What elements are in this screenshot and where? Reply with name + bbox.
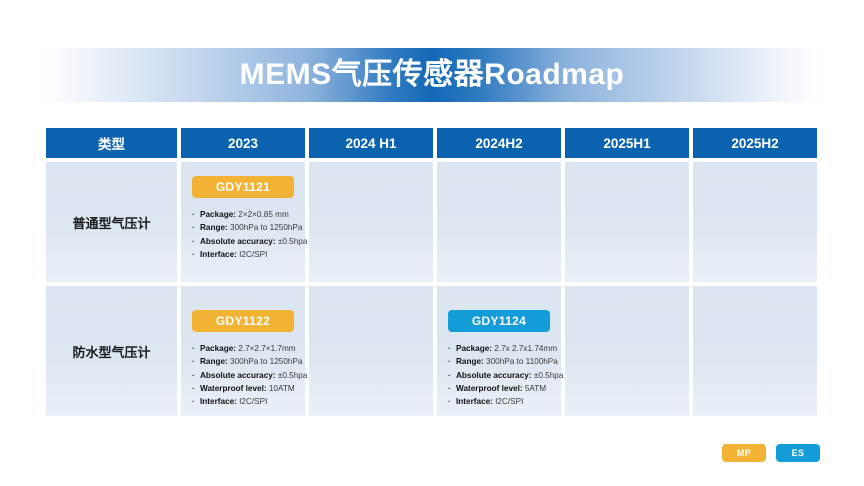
spec-key: Range: — [200, 357, 228, 366]
spec-item: Package: 2.7x 2.7x1.74mm — [448, 342, 550, 355]
legend-chip-es[interactable]: ES — [776, 444, 820, 462]
product-chip-gdy1122[interactable]: GDY1122 — [192, 310, 294, 332]
table-row: 防水型气压计 GDY1122 Package: 2.7×2.7×1.7mm Ra… — [46, 286, 818, 416]
cell-2023-waterproof[interactable]: GDY1122 Package: 2.7×2.7×1.7mm Range: 30… — [181, 286, 305, 416]
spec-item: Interface: I2C/SPI — [192, 248, 294, 261]
spec-list: Package: 2×2×0.85 mm Range: 300hPa to 12… — [192, 208, 294, 261]
cell-2024h1-normal[interactable] — [309, 162, 433, 282]
page-title: MEMS气压传感器Roadmap — [240, 60, 625, 90]
spec-value: 2.7x 2.7x1.74mm — [494, 344, 557, 353]
product-chip-gdy1121[interactable]: GDY1121 — [192, 176, 294, 198]
spec-key: Package: — [456, 344, 492, 353]
legend-chip-mp[interactable]: MP — [722, 444, 766, 462]
table-header-cell-2024h1: 2024 H1 — [309, 128, 433, 158]
spec-item: Interface: I2C/SPI — [192, 395, 294, 408]
cell-2024h1-waterproof[interactable] — [309, 286, 433, 416]
cell-2023-normal[interactable]: GDY1121 Package: 2×2×0.85 mm Range: 300h… — [181, 162, 305, 282]
spec-item: Absolute accuracy: ±0.5hpa — [192, 369, 294, 382]
cell-2025h2-normal[interactable] — [693, 162, 817, 282]
spec-item: Absolute accuracy: ±0.5hpa — [448, 369, 550, 382]
spec-item: Waterproof level: 10ATM — [192, 382, 294, 395]
cell-2024h2-normal[interactable] — [437, 162, 561, 282]
spec-list: Package: 2.7x 2.7x1.74mm Range: 300hPa t… — [448, 342, 550, 408]
spec-item: Waterproof level: 5ATM — [448, 382, 550, 395]
spec-value: ±0.5hpa — [278, 237, 308, 246]
cell-2025h1-waterproof[interactable] — [565, 286, 689, 416]
table-header-cell-2025h2: 2025H2 — [693, 128, 817, 158]
spec-value: 10ATM — [269, 384, 295, 393]
spec-item: Absolute accuracy: ±0.5hpa — [192, 235, 294, 248]
spec-value: 300hPa to 1250hPa — [230, 223, 302, 232]
spec-list: Package: 2.7×2.7×1.7mm Range: 300hPa to … — [192, 342, 294, 408]
table-row: 普通型气压计 GDY1121 Package: 2×2×0.85 mm Rang… — [46, 162, 818, 282]
spec-value: I2C/SPI — [495, 397, 523, 406]
spec-value: ±0.5hpa — [534, 371, 564, 380]
spec-value: 2.7×2.7×1.7mm — [238, 344, 295, 353]
product-block-gdy1122: GDY1122 Package: 2.7×2.7×1.7mm Range: 30… — [181, 286, 305, 416]
spec-item: Package: 2×2×0.85 mm — [192, 208, 294, 221]
spec-key: Waterproof level: — [456, 384, 523, 393]
spec-value: I2C/SPI — [239, 250, 267, 259]
legend: MP ES — [722, 444, 820, 462]
spec-item: Interface: I2C/SPI — [448, 395, 550, 408]
spec-item: Range: 300hPa to 1250hPa — [192, 355, 294, 368]
spec-key: Range: — [456, 357, 484, 366]
spec-value: 2×2×0.85 mm — [238, 210, 289, 219]
table-header-cell-2024h2: 2024H2 — [437, 128, 561, 158]
spec-key: Package: — [200, 210, 236, 219]
row-type-cell: 普通型气压计 — [46, 162, 177, 282]
row-type-cell: 防水型气压计 — [46, 286, 177, 416]
cell-2025h1-normal[interactable] — [565, 162, 689, 282]
spec-value: 5ATM — [525, 384, 546, 393]
roadmap-table: 类型 2023 2024 H1 2024H2 2025H1 2025H2 普通型… — [46, 128, 818, 420]
spec-value: ±0.5hpa — [278, 371, 308, 380]
spec-value: I2C/SPI — [239, 397, 267, 406]
spec-value: 300hPa to 1250hPa — [230, 357, 302, 366]
spec-value: 300hPa to 1100hPa — [486, 357, 558, 366]
spec-key: Interface: — [456, 397, 493, 406]
title-banner: MEMS气压传感器Roadmap — [42, 48, 822, 102]
table-header-cell-2025h1: 2025H1 — [565, 128, 689, 158]
product-block-gdy1124: GDY1124 Package: 2.7x 2.7x1.74mm Range: … — [437, 286, 561, 416]
spec-key: Absolute accuracy: — [200, 237, 276, 246]
row-type-label: 普通型气压计 — [72, 213, 150, 232]
table-header-cell-type: 类型 — [46, 128, 177, 158]
spec-key: Interface: — [200, 250, 237, 259]
product-chip-gdy1124[interactable]: GDY1124 — [448, 310, 550, 332]
cell-2024h2-waterproof[interactable]: GDY1124 Package: 2.7x 2.7x1.74mm Range: … — [437, 286, 561, 416]
table-header-cell-2023: 2023 — [181, 128, 305, 158]
spec-key: Waterproof level: — [200, 384, 267, 393]
spec-key: Absolute accuracy: — [456, 371, 532, 380]
spec-key: Range: — [200, 223, 228, 232]
cell-2025h2-waterproof[interactable] — [693, 286, 817, 416]
table-header-row: 类型 2023 2024 H1 2024H2 2025H1 2025H2 — [46, 128, 818, 158]
spec-key: Absolute accuracy: — [200, 371, 276, 380]
spec-key: Package: — [200, 344, 236, 353]
row-type-label: 防水型气压计 — [72, 342, 150, 361]
product-block-gdy1121: GDY1121 Package: 2×2×0.85 mm Range: 300h… — [181, 162, 305, 269]
spec-key: Interface: — [200, 397, 237, 406]
spec-item: Range: 300hPa to 1250hPa — [192, 221, 294, 234]
spec-item: Range: 300hPa to 1100hPa — [448, 355, 550, 368]
spec-item: Package: 2.7×2.7×1.7mm — [192, 342, 294, 355]
